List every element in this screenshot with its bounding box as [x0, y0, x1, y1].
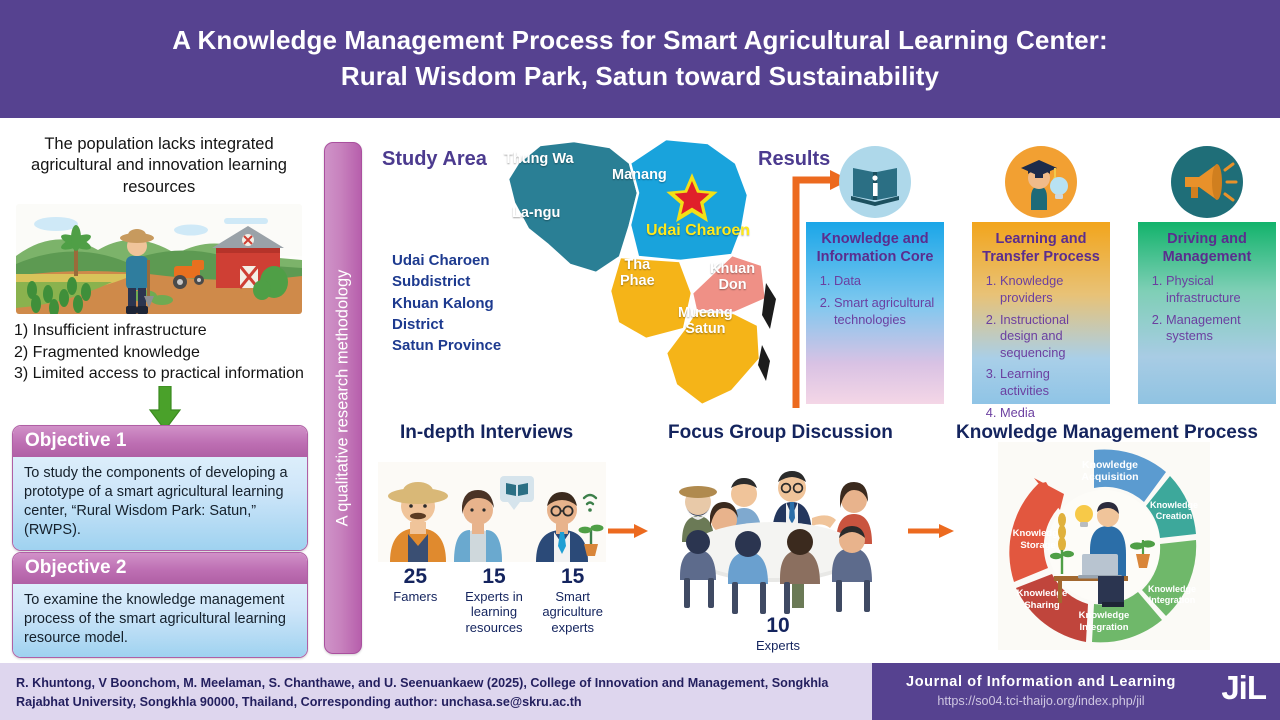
participant-count: 15: [533, 565, 612, 589]
in-depth-interviews-heading: In-depth Interviews: [400, 422, 573, 444]
problem-statement: The population lacks integrated agricult…: [0, 126, 318, 198]
objective-1-text: To study the components of developing a …: [13, 457, 307, 550]
jil-logo: JiL: [1221, 669, 1266, 707]
km-process-heading: Knowledge Management Process: [956, 422, 1258, 444]
interview-participant-counts: 25 Famers 15 Experts in learning resourc…: [376, 565, 612, 635]
result-card-2-list: Physical infrastructure Management syste…: [1146, 273, 1268, 345]
list-item: Knowledge providers: [1000, 273, 1102, 306]
svg-text:Knowledge: Knowledge: [1013, 528, 1064, 539]
arrow-focus-group-to-km-process: [908, 524, 954, 538]
result-card-knowledge-core: Knowledge and Information Core Data Smar…: [806, 222, 944, 404]
journal-name: Journal of Information and Learning: [886, 674, 1196, 690]
focus-group-count: 10: [718, 614, 838, 638]
participant-label: Famers: [376, 589, 455, 605]
issue-list: 1) Insufficient infrastructure 2) Fragme…: [0, 314, 318, 384]
journal-url[interactable]: https://so04.tci-thaijo.org/index.php/ji…: [886, 694, 1196, 708]
open-book-information-icon: [839, 146, 911, 218]
svg-text:Integration: Integration: [1079, 622, 1128, 633]
journal-block: Journal of Information and Learning http…: [872, 663, 1280, 720]
three-interviewees-illustration: [378, 462, 606, 562]
participant-count: 15: [455, 565, 534, 589]
result-card-learning-transfer: Learning and Transfer Process Knowledge …: [972, 222, 1110, 404]
focus-group-label: Experts: [718, 638, 838, 654]
farmer-field-barn-illustration: [16, 204, 302, 314]
list-item: Learning activities: [1000, 366, 1102, 399]
title-line-2: Rural Wisdom Park, Satun toward Sustaina…: [341, 59, 939, 95]
footer-bar: R. Khuntong, V Boonchom, M. Meelaman, S.…: [0, 663, 1280, 720]
objective-2-text: To examine the knowledge management proc…: [13, 584, 307, 657]
graduate-lightbulb-icon: [1005, 146, 1077, 218]
methodology-label: A qualitative research methodology: [334, 270, 353, 527]
issue-item-2: 2) Fragmented knowledge: [14, 342, 308, 363]
svg-text:Knowledge: Knowledge: [1079, 610, 1130, 621]
round-table-discussion-illustration: [640, 458, 902, 624]
svg-text:Knowledge: Knowledge: [1150, 500, 1198, 510]
svg-text:Integration: Integration: [1149, 595, 1196, 605]
list-item: Data: [834, 273, 936, 290]
result-card-driving-management: Driving and Management Physical infrastr…: [1138, 222, 1276, 404]
objective-1-card: Objective 1 To study the components of d…: [12, 425, 308, 551]
list-item: Media: [1000, 405, 1102, 422]
megaphone-icon: [1171, 146, 1243, 218]
result-card-0-title: Knowledge and Information Core: [814, 230, 936, 266]
result-card-2-title: Driving and Management: [1146, 230, 1268, 266]
result-card-1-list: Knowledge providers Instructional design…: [980, 273, 1102, 421]
list-item: Management systems: [1166, 312, 1268, 345]
title-banner: A Knowledge Management Process for Smart…: [0, 0, 1280, 118]
knowledge-management-cycle-wheel: Knowledge Acquisition Knowledge Creation…: [998, 442, 1210, 650]
participant-group: 25 Famers: [376, 565, 455, 635]
list-item: Physical infrastructure: [1166, 273, 1268, 306]
svg-text:Storage: Storage: [1020, 540, 1055, 551]
methodology-bar: A qualitative research methodology: [324, 142, 362, 654]
title-line-1: A Knowledge Management Process for Smart…: [172, 23, 1107, 59]
objective-1-heading: Objective 1: [13, 426, 307, 457]
participant-label: Smart agriculture experts: [533, 589, 612, 636]
focus-group-count-block: 10 Experts: [718, 614, 838, 653]
graphical-abstract-page: A Knowledge Management Process for Smart…: [0, 0, 1280, 720]
issue-item-3: 3) Limited access to practical informati…: [14, 363, 308, 384]
issue-item-1: 1) Insufficient infrastructure: [14, 320, 308, 341]
result-card-0-list: Data Smart agricultural technologies: [814, 273, 936, 328]
result-card-1-title: Learning and Transfer Process: [980, 230, 1102, 266]
satun-province-map: Thung Wa La-ngu Manang Udai Charoen Tha …: [470, 133, 800, 415]
objective-2-heading: Objective 2: [13, 553, 307, 584]
svg-text:Acquisition: Acquisition: [1081, 471, 1138, 483]
citation-text: R. Khuntong, V Boonchom, M. Meelaman, S.…: [16, 674, 856, 712]
participant-group: 15 Smart agriculture experts: [533, 565, 612, 635]
list-item: Instructional design and sequencing: [1000, 312, 1102, 362]
focus-group-heading: Focus Group Discussion: [668, 422, 893, 444]
participant-count: 25: [376, 565, 455, 589]
participant-group: 15 Experts in learning resources: [455, 565, 534, 635]
svg-text:Knowledge: Knowledge: [1082, 459, 1138, 471]
svg-text:Sharing: Sharing: [1024, 600, 1060, 611]
participant-label: Experts in learning resources: [455, 589, 534, 636]
list-item: Smart agricultural technologies: [834, 295, 936, 328]
objective-2-card: Objective 2 To examine the knowledge man…: [12, 552, 308, 658]
svg-text:Knowledge: Knowledge: [1148, 584, 1196, 594]
svg-text:Creation: Creation: [1156, 511, 1193, 521]
